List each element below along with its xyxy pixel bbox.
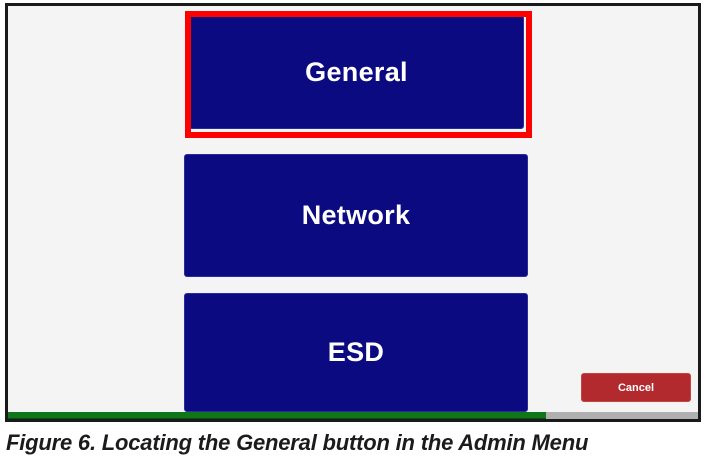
cancel-button-label: Cancel [618,382,654,394]
admin-menu-screen: General Network ESD Cancel [8,6,698,419]
figure-caption: Figure 6. Locating the General button in… [6,428,706,458]
menu-button-network[interactable]: Network [184,154,528,277]
menu-button-esd[interactable]: ESD [184,293,528,412]
menu-button-esd-label: ESD [328,339,384,366]
status-progress-track [546,412,698,419]
status-progress-bar [8,412,698,419]
menu-button-network-label: Network [302,202,411,229]
menu-button-general-label: General [305,59,408,86]
figure-container: General Network ESD Cancel Figure 6. Loc… [0,0,709,465]
cancel-button[interactable]: Cancel [581,373,691,402]
status-progress-fill [8,412,546,419]
menu-button-general[interactable]: General [189,15,524,129]
screenshot-frame: General Network ESD Cancel [5,3,701,422]
